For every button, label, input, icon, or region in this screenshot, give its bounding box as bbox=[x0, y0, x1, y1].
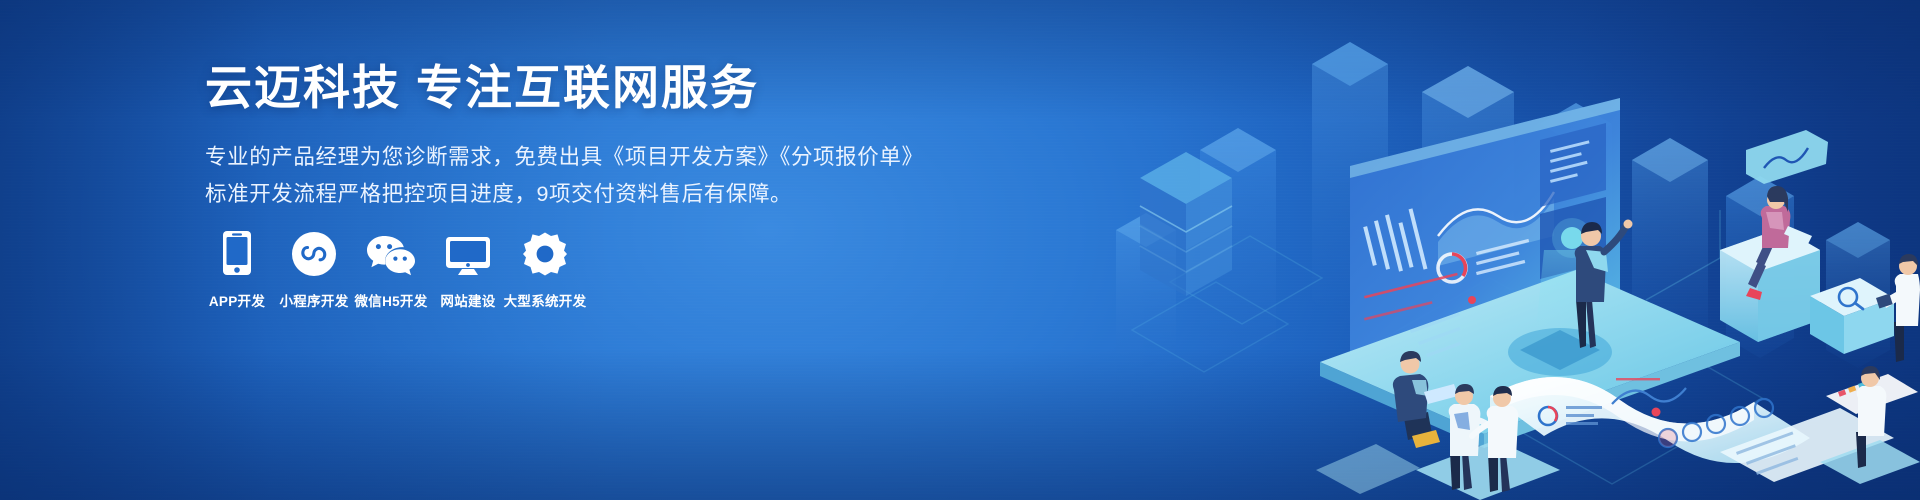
hero-text-block: 云迈科技 专注互联网服务 专业的产品经理为您诊断需求，免费出具《项目开发方案》《… bbox=[205, 62, 905, 211]
gear-icon bbox=[523, 228, 567, 276]
mobile-phone-icon bbox=[222, 228, 252, 276]
service-item-website[interactable]: 网站建设 bbox=[431, 228, 505, 310]
hero-banner: 云迈科技 专注互联网服务 专业的产品经理为您诊断需求，免费出具《项目开发方案》《… bbox=[0, 0, 1920, 500]
service-item-app[interactable]: APP开发 bbox=[200, 228, 274, 310]
service-item-wechat[interactable]: 微信H5开发 bbox=[354, 228, 428, 310]
service-label-mini-program: 小程序开发 bbox=[280, 290, 349, 310]
monitor-icon bbox=[445, 228, 491, 276]
service-label-app: APP开发 bbox=[209, 290, 265, 310]
service-label-website: 网站建设 bbox=[440, 290, 495, 310]
service-item-large-system[interactable]: 大型系统开发 bbox=[508, 228, 582, 310]
server-stack bbox=[1140, 152, 1232, 296]
hero-illustration bbox=[1020, 0, 1920, 500]
wechat-icon bbox=[366, 228, 416, 276]
page-title: 云迈科技 专注互联网服务 bbox=[205, 62, 905, 114]
subtitle-line-1: 专业的产品经理为您诊断需求，免费出具《项目开发方案》《分项报价单》 bbox=[205, 140, 905, 175]
mini-program-icon bbox=[292, 228, 336, 276]
service-item-mini-program[interactable]: 小程序开发 bbox=[277, 228, 351, 310]
service-label-large-system: 大型系统开发 bbox=[504, 290, 587, 310]
subtitle-line-2: 标准开发流程严格把控项目进度，9项交付资料售后有保障。 bbox=[205, 177, 905, 212]
foreground-slab bbox=[1316, 444, 1420, 494]
service-label-wechat-h5: 微信H5开发 bbox=[354, 290, 427, 310]
service-icon-row: APP开发 小程序开发 微信 bbox=[200, 228, 585, 310]
